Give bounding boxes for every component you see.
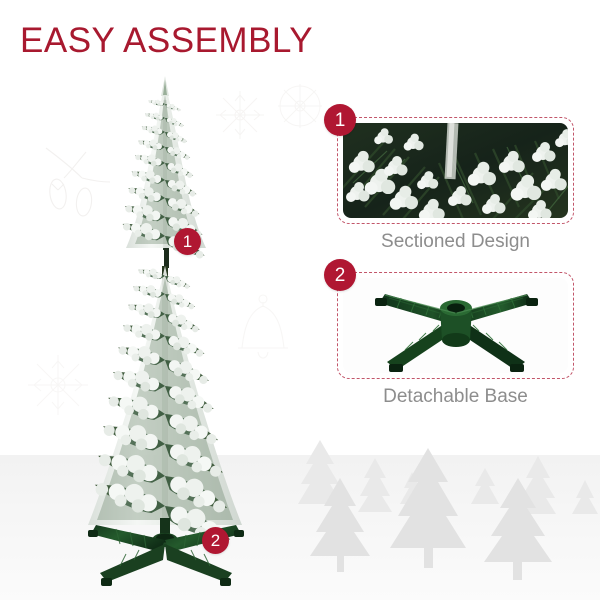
- forest-silhouette: [280, 430, 600, 600]
- tree-lower-section: [88, 264, 242, 550]
- callout-card-sectioned-design: 1: [337, 117, 574, 224]
- callout-caption-sectioned-design: Sectioned Design: [337, 231, 574, 253]
- tree-marker-2[interactable]: 2: [202, 527, 229, 554]
- product-hero-image: [60, 70, 300, 590]
- callout-badge-1[interactable]: 1: [324, 104, 356, 136]
- flocked-branch-closeup: [343, 123, 568, 218]
- callout-photo-detachable-base: [343, 278, 568, 373]
- callout-caption-detachable-base: Detachable Base: [337, 386, 574, 408]
- christmas-tree-illustration: [60, 70, 300, 590]
- callout-card-detachable-base: 2: [337, 272, 574, 379]
- callout-badge-2[interactable]: 2: [324, 259, 356, 291]
- callout-photo-sectioned-design: [343, 123, 568, 218]
- tree-stand-closeup: [343, 278, 568, 373]
- page-title: EASY ASSEMBLY: [20, 21, 313, 61]
- tree-marker-1[interactable]: 1: [174, 228, 201, 255]
- infographic-canvas: EASY ASSEMBLY: [0, 0, 600, 600]
